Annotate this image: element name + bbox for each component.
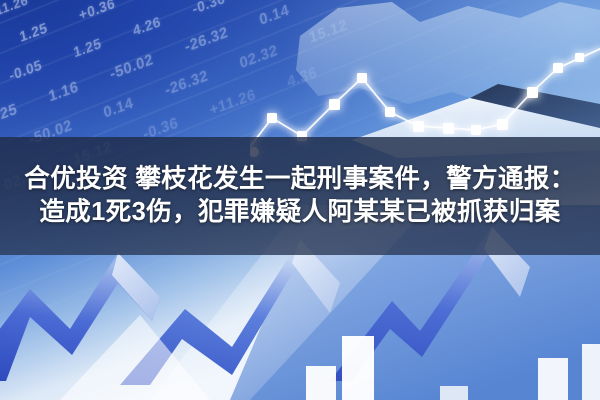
headline-line-2: 造成1死3伤，犯罪嫌疑人阿某某已被抓获归案	[39, 196, 560, 229]
bar-chart-bars	[306, 336, 600, 400]
headline-line-1: 合优投资 攀枝花发生一起刑事案件，警方通报：	[24, 163, 575, 196]
news-headline-banner: -0.36 +45.02 21.06 -11.26 +5.02 -50.02 +…	[0, 0, 600, 400]
arrow-ribbon-1-edge	[112, 253, 160, 321]
white-bar-chart	[300, 300, 600, 400]
headline-overlay-band: 合优投资 攀枝花发生一起刑事案件，警方通报： 造成1死3伤，犯罪嫌疑人阿某某已被…	[0, 137, 600, 255]
